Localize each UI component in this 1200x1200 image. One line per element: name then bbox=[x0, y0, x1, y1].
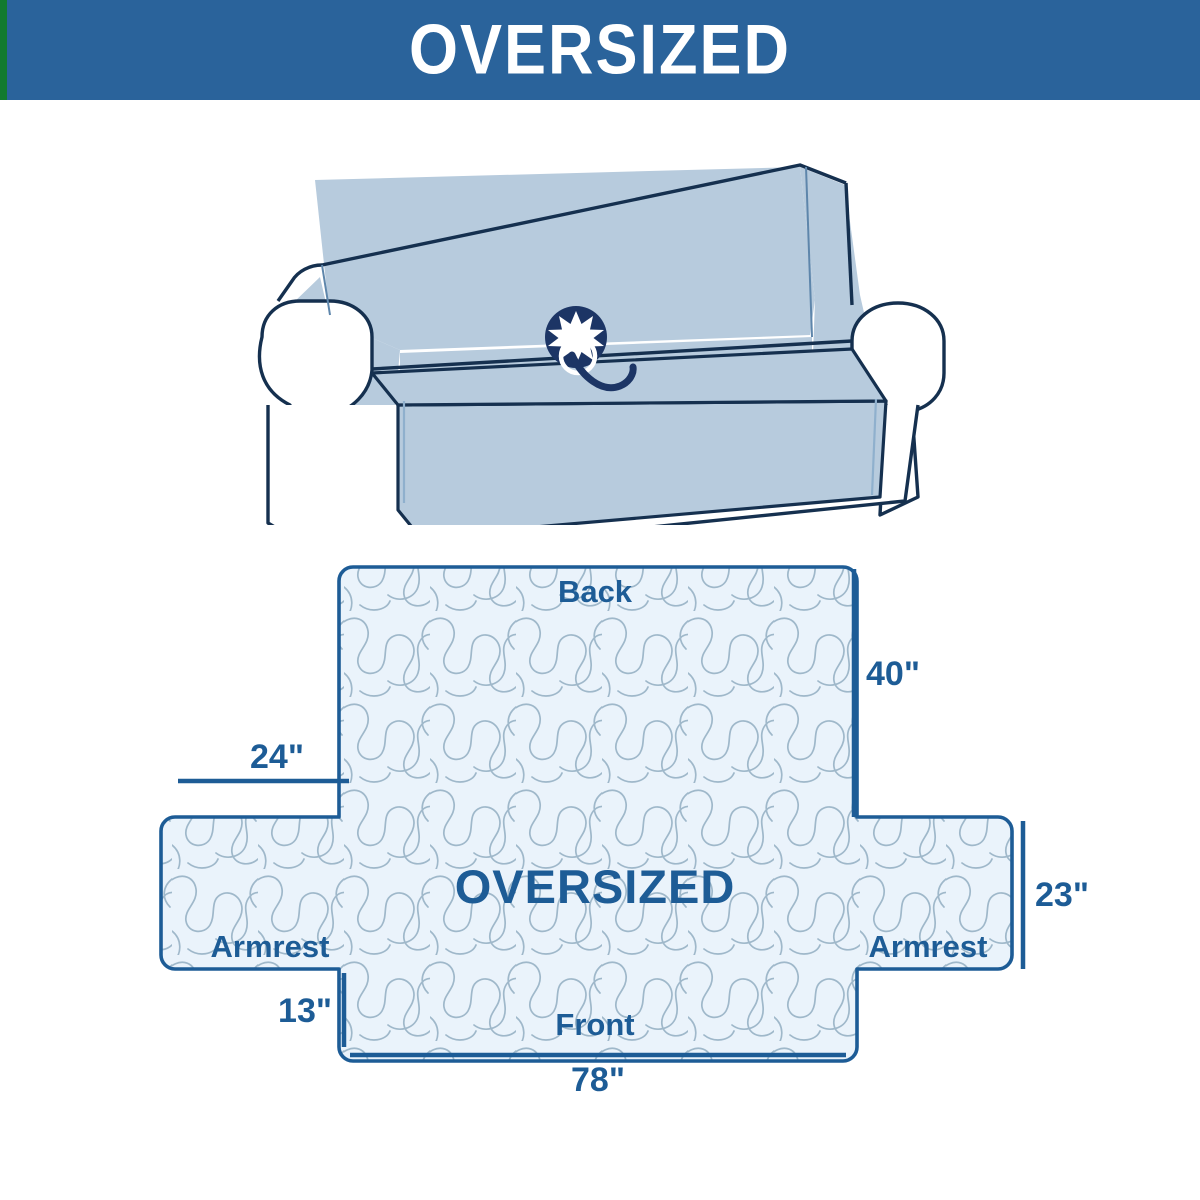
panel-label-back: Back bbox=[558, 574, 633, 609]
dimension-label-back-height: 40" bbox=[866, 655, 920, 693]
header-banner: OVERSIZED bbox=[0, 0, 1200, 100]
size-chart-page: OVERSIZED bbox=[0, 0, 1200, 1200]
dimension-label-front-skirt: 13" bbox=[278, 992, 332, 1030]
size-diagram: Back Armrest Armrest Front OVERSIZED 40"… bbox=[0, 525, 1200, 1200]
dimension-label-armrest-depth: 24" bbox=[250, 738, 304, 776]
cover-flat-shape bbox=[161, 567, 1012, 1061]
panel-label-armrest-right: Armrest bbox=[869, 929, 988, 964]
dimension-label-armrest-height: 23" bbox=[1035, 876, 1089, 914]
dimension-label-total-width: 78" bbox=[571, 1061, 625, 1099]
banner-title: OVERSIZED bbox=[409, 15, 791, 86]
sofa-illustration bbox=[0, 105, 1200, 525]
panel-label-front: Front bbox=[555, 1007, 634, 1042]
diagram-center-label: OVERSIZED bbox=[455, 860, 736, 913]
panel-label-armrest-left: Armrest bbox=[211, 929, 330, 964]
banner-accent-edge bbox=[0, 0, 7, 100]
